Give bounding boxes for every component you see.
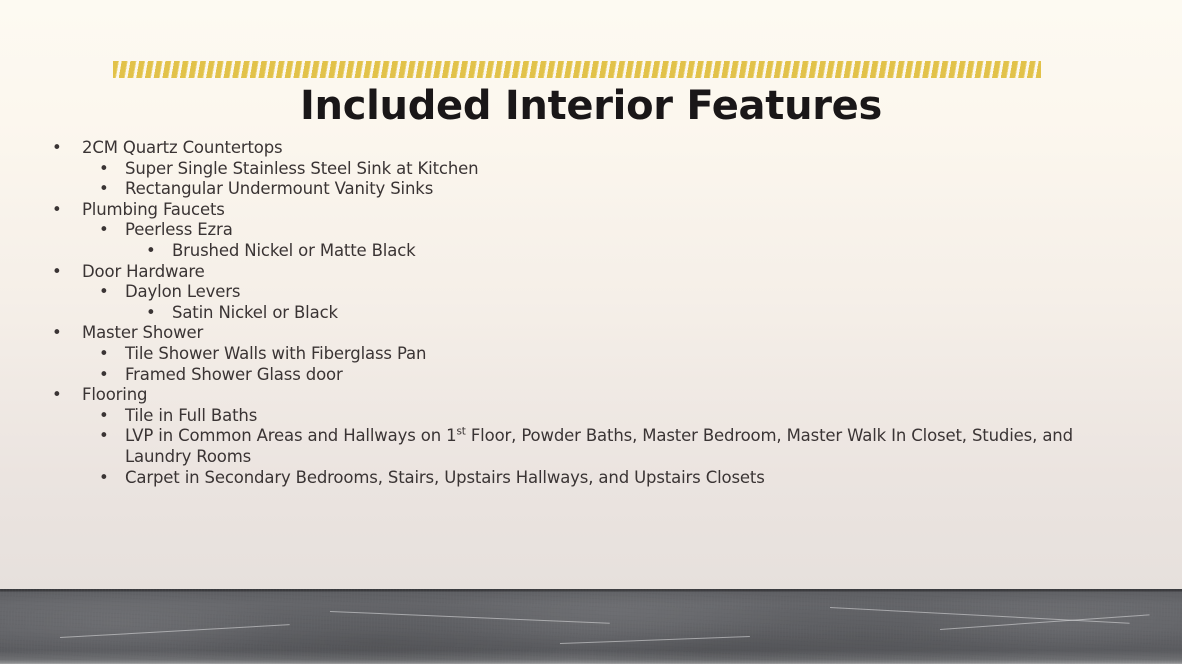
page-title: Included Interior Features: [0, 82, 1182, 130]
list-item: •Peerless Ezra: [0, 220, 1182, 241]
list-item-label: Tile Shower Walls with Fiberglass Pan: [125, 344, 1092, 365]
list-item-label: Flooring: [82, 385, 1092, 406]
list-item-label: Master Shower: [82, 323, 1092, 344]
bullet-glyph-icon: •: [99, 365, 109, 386]
list-item: •Framed Shower Glass door: [0, 365, 1182, 386]
bullet-glyph-icon: •: [99, 468, 109, 489]
bullet-glyph-icon: •: [99, 406, 109, 427]
list-item: •LVP in Common Areas and Hallways on 1st…: [0, 426, 1182, 467]
dashed-gold-accent-bar: [113, 61, 1041, 78]
bullet-glyph-icon: •: [52, 262, 62, 283]
list-item-label: Brushed Nickel or Matte Black: [172, 241, 1092, 262]
list-item: •Brushed Nickel or Matte Black: [0, 241, 1182, 262]
list-item: •Satin Nickel or Black: [0, 303, 1182, 324]
bullet-glyph-icon: •: [146, 303, 156, 324]
feature-bullet-list: •2CM Quartz Countertops•Super Single Sta…: [0, 138, 1182, 488]
list-item: •Tile Shower Walls with Fiberglass Pan: [0, 344, 1182, 365]
bullet-glyph-icon: •: [99, 426, 109, 447]
bullet-glyph-icon: •: [52, 323, 62, 344]
list-item-label: Framed Shower Glass door: [125, 365, 1092, 386]
gray-stone-countertop-photo: [0, 589, 1182, 664]
list-item: •Carpet in Secondary Bedrooms, Stairs, U…: [0, 468, 1182, 489]
list-item: •Daylon Levers: [0, 282, 1182, 303]
list-item: •Flooring: [0, 385, 1182, 406]
list-item-label: Peerless Ezra: [125, 220, 1092, 241]
list-item-label: Plumbing Faucets: [82, 200, 1092, 221]
list-item: •Tile in Full Baths: [0, 406, 1182, 427]
bullet-glyph-icon: •: [146, 241, 156, 262]
list-item-label: Tile in Full Baths: [125, 406, 1092, 427]
stone-grain-layer: [0, 589, 1182, 664]
list-item: •Master Shower: [0, 323, 1182, 344]
list-item-label: Daylon Levers: [125, 282, 1092, 303]
list-item-label: Rectangular Undermount Vanity Sinks: [125, 179, 1092, 200]
bullet-glyph-icon: •: [99, 159, 109, 180]
list-item-label: LVP in Common Areas and Hallways on 1st …: [125, 426, 1092, 467]
list-item: •2CM Quartz Countertops: [0, 138, 1182, 159]
presentation-slide: Included Interior Features •2CM Quartz C…: [0, 0, 1182, 664]
list-item: •Rectangular Undermount Vanity Sinks: [0, 179, 1182, 200]
bullet-glyph-icon: •: [99, 344, 109, 365]
list-item-label: Super Single Stainless Steel Sink at Kit…: [125, 159, 1092, 180]
list-item-label: Satin Nickel or Black: [172, 303, 1092, 324]
bullet-glyph-icon: •: [52, 138, 62, 159]
bullet-glyph-icon: •: [99, 220, 109, 241]
ordinal-suffix: st: [456, 426, 465, 438]
list-item-label: Carpet in Secondary Bedrooms, Stairs, Up…: [125, 468, 1092, 489]
list-item-label: 2CM Quartz Countertops: [82, 138, 1092, 159]
list-item: •Plumbing Faucets: [0, 200, 1182, 221]
bullet-glyph-icon: •: [52, 200, 62, 221]
bullet-glyph-icon: •: [99, 179, 109, 200]
bullet-glyph-icon: •: [52, 385, 62, 406]
list-item-label: Door Hardware: [82, 262, 1092, 283]
bullet-glyph-icon: •: [99, 282, 109, 303]
list-item: •Door Hardware: [0, 262, 1182, 283]
list-item: •Super Single Stainless Steel Sink at Ki…: [0, 159, 1182, 180]
